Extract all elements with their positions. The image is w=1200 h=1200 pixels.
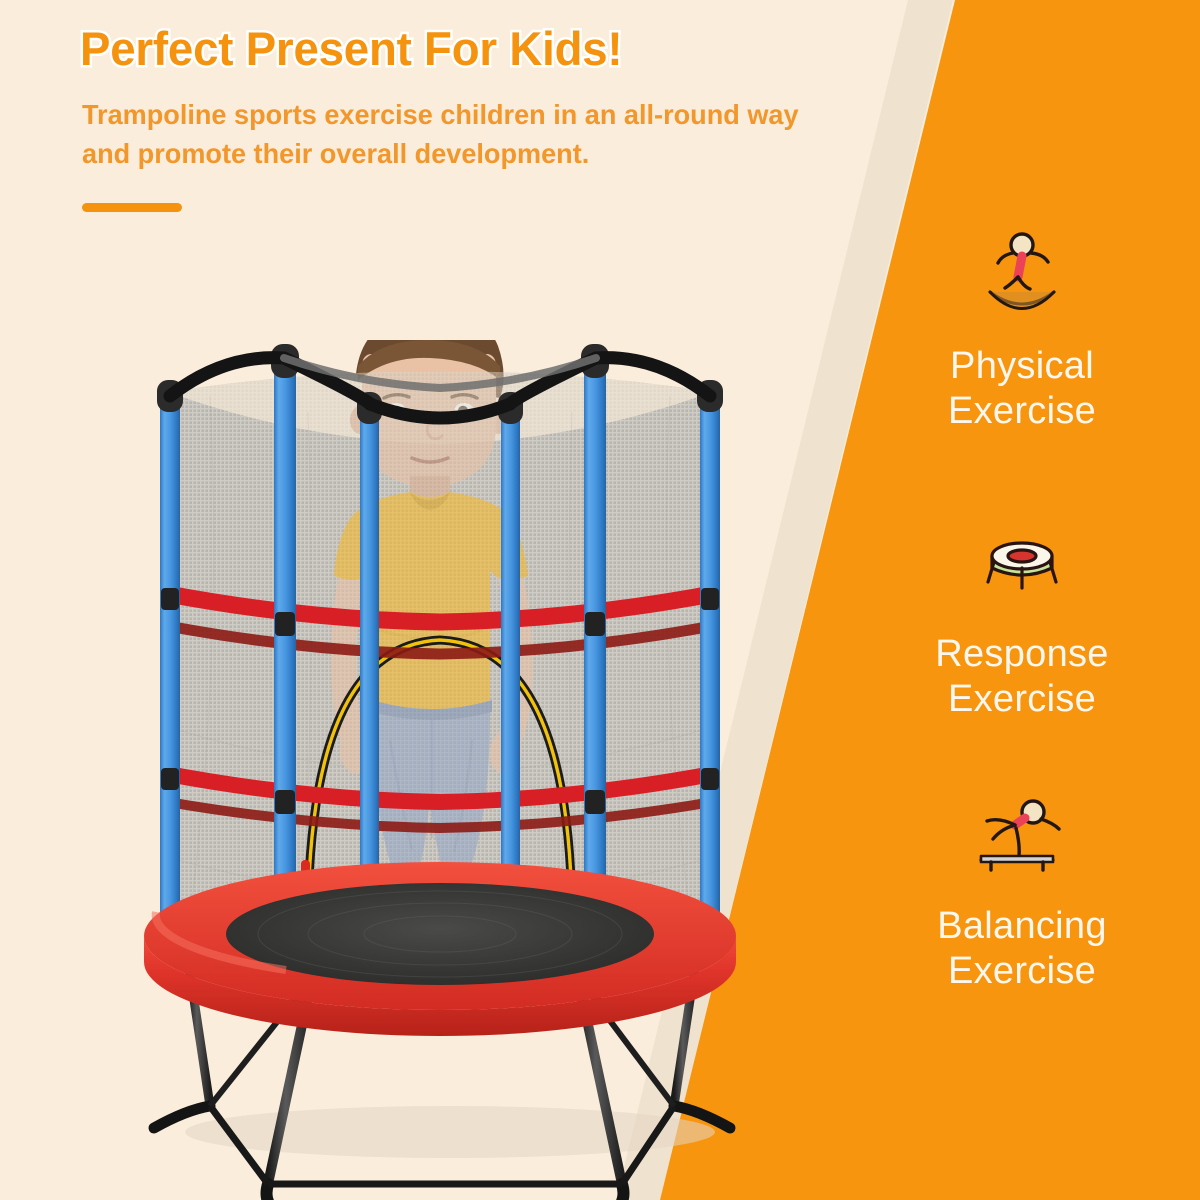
page-title: Perfect Present For Kids!: [80, 24, 856, 73]
product-marketing-banner: Perfect Present For Kids! Trampoline spo…: [0, 0, 1200, 1200]
feature-response-exercise: Response Exercise: [872, 510, 1172, 722]
trampoline-base: [144, 862, 736, 1036]
product-image: [60, 300, 820, 1200]
balance-beam-person-icon: [872, 782, 1172, 882]
feature-balancing-exercise: Balancing Exercise: [872, 782, 1172, 994]
feature-label-line1: Physical: [872, 344, 1172, 389]
feature-label-line2: Exercise: [872, 949, 1172, 994]
page-subtitle: Trampoline sports exercise children in a…: [82, 95, 811, 173]
feature-label: Response Exercise: [872, 632, 1172, 722]
accent-divider: [82, 203, 182, 212]
feature-label-line1: Response: [872, 632, 1172, 677]
feature-label: Balancing Exercise: [872, 904, 1172, 994]
feature-label-line2: Exercise: [872, 677, 1172, 722]
feature-physical-exercise: Physical Exercise: [872, 222, 1172, 434]
feature-label-line2: Exercise: [872, 389, 1172, 434]
feature-label: Physical Exercise: [872, 344, 1172, 434]
feature-list: Physical Exercise Response: [872, 0, 1172, 1200]
header-block: Perfect Present For Kids! Trampoline spo…: [80, 24, 880, 212]
jumping-person-on-trampoline-icon: [872, 222, 1172, 322]
feature-label-line1: Balancing: [872, 904, 1172, 949]
round-trampoline-icon: [872, 510, 1172, 610]
